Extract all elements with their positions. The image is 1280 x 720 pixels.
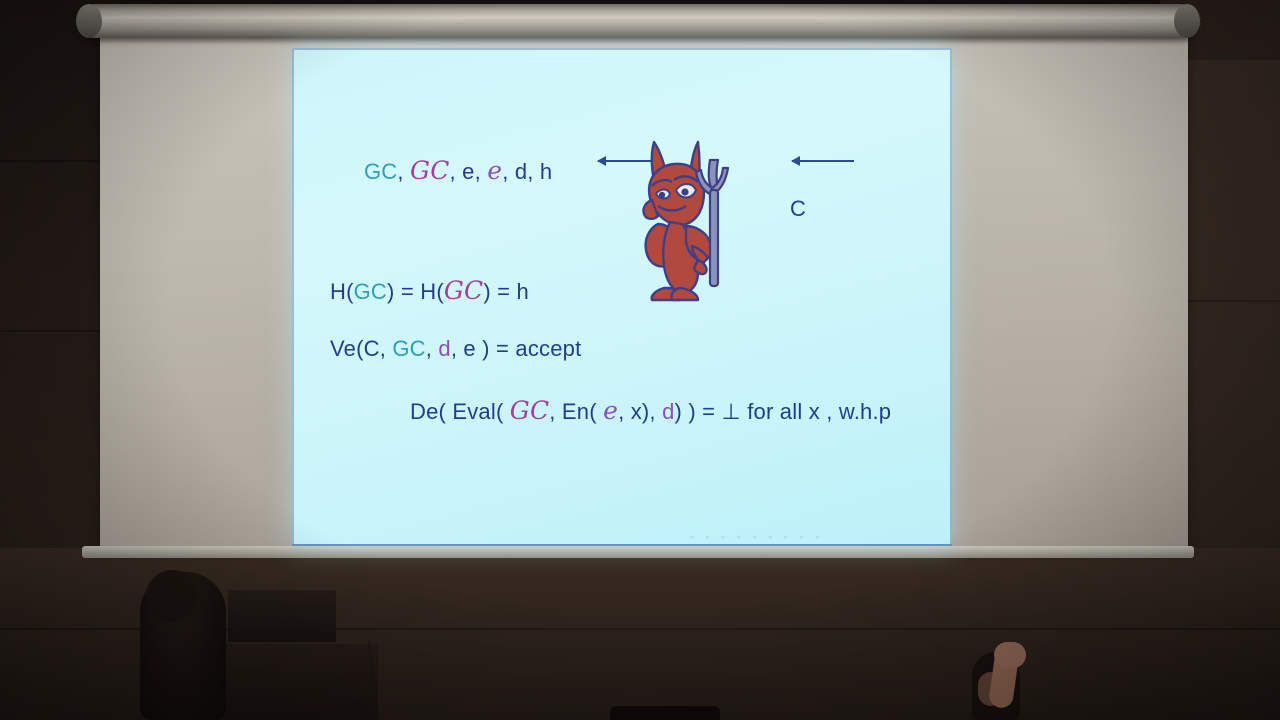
text-eq-h: ) = h [483, 279, 529, 304]
audience-member [972, 642, 1042, 720]
text-e-script: e [487, 156, 502, 185]
presenter-laptop [228, 590, 336, 644]
ghost-taskbar-line [292, 544, 952, 546]
foreground-head-silhouette [610, 706, 720, 720]
devil-adversary-icon [628, 138, 740, 304]
text-d: d [662, 399, 674, 424]
slide-line-notation: GC, GC, e, e, d, h [364, 156, 552, 185]
text-tail: , d, h [502, 159, 552, 184]
arrow-left-incoming-icon [792, 160, 854, 162]
text-gc-script: GC [444, 276, 484, 305]
slide-line-decrypt-equation: De( Eval( GC, En( e, x), d) ) = ⊥ for al… [410, 396, 891, 425]
roller-cap-right [1174, 4, 1200, 38]
slide-line-hash-equation: H(GC) = H(GC) = h [330, 276, 529, 305]
projection-screen-roller[interactable]: PROJ CLUB [78, 4, 1198, 38]
text-gc-upright: GC [364, 159, 397, 184]
text-gc-script: GC [510, 396, 550, 425]
text-gc-upright: GC [354, 279, 387, 304]
slide-line-verify-equation: Ve(C, GC, d, e ) = accept [330, 336, 581, 362]
text-x-close: , x), [618, 399, 662, 424]
audience-hand [994, 642, 1026, 668]
presenter-head [146, 570, 198, 622]
roller-cap-left [76, 4, 102, 38]
text-bottom-whp: ) ) = ⊥ for all x , w.h.p [675, 399, 892, 424]
text-sep: , [426, 336, 439, 361]
text-e-script: e [603, 396, 618, 425]
text-ve-open: Ve(C, [330, 336, 392, 361]
adversary-label-c: C [790, 196, 806, 222]
text-h-open: H( [330, 279, 354, 304]
projection-screen-bottom-bar [82, 546, 1194, 558]
text-gc-upright: GC [392, 336, 425, 361]
text-accept: , e ) = accept [451, 336, 582, 361]
text-sep: , [397, 159, 410, 184]
text-gc-script: GC [410, 156, 450, 185]
projected-slide: GC, GC, e, e, d, h [292, 48, 952, 546]
text-e-d-h: , e, [450, 159, 488, 184]
lecture-hall-scene: PROJ CLUB GC, GC, e, e, d, h [0, 0, 1280, 720]
text-d: d [438, 336, 450, 361]
text-en-open: , En( [549, 399, 603, 424]
text-eq-h-open: ) = H( [387, 279, 444, 304]
text-de-eval-open: De( Eval( [410, 399, 510, 424]
